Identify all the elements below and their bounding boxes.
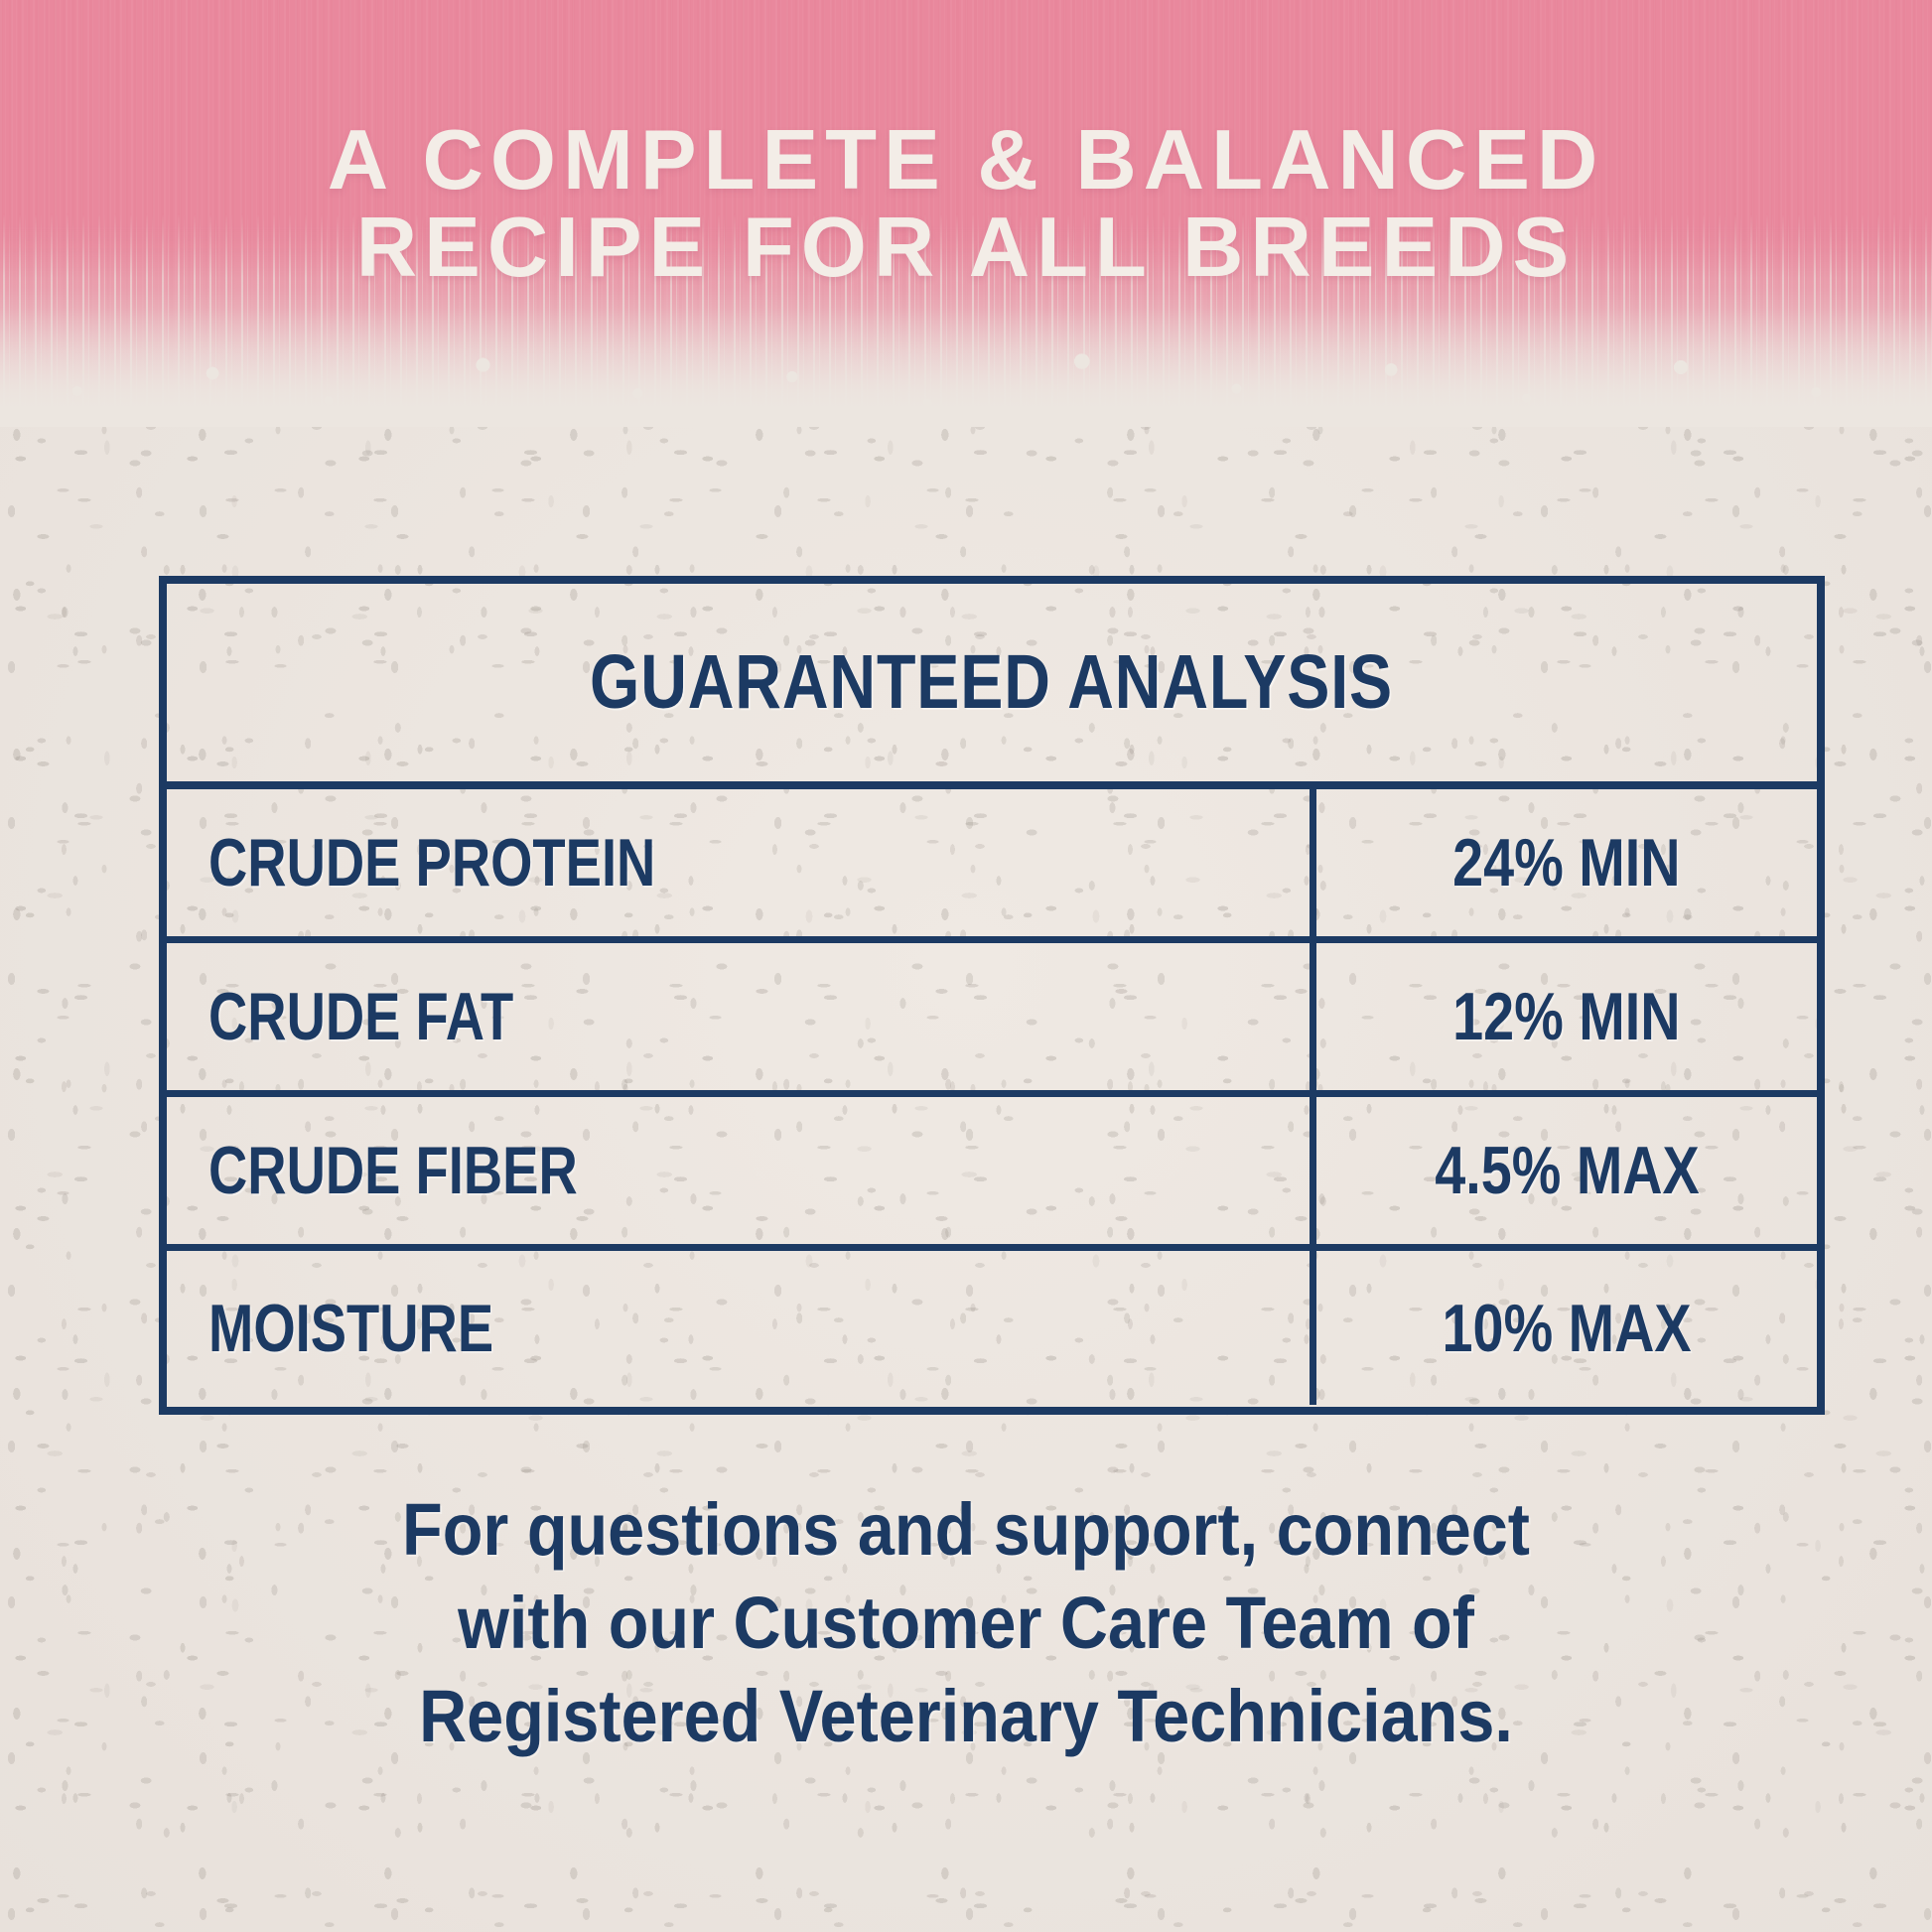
page-title-line-2: RECIPE FOR ALL BREEDS	[0, 205, 1932, 292]
guaranteed-analysis-panel: A COMPLETE & BALANCED RECIPE FOR ALL BRE…	[0, 0, 1932, 1932]
nutrient-label: MOISTURE	[208, 1290, 493, 1367]
customer-care-note-line-1: For questions and support, connect	[248, 1483, 1683, 1577]
nutrient-value: 12% MIN	[1452, 978, 1680, 1055]
table-title: GUARANTEED ANALYSIS	[590, 638, 1393, 727]
customer-care-note-line-2: with our Customer Care Team of	[248, 1577, 1683, 1670]
nutrient-label-cell: CRUDE FAT	[167, 943, 1316, 1090]
nutrient-value-cell: 10% MAX	[1316, 1251, 1817, 1405]
pink-brush-torn-edge	[0, 308, 1932, 427]
table-row: CRUDE FIBER 4.5% MAX	[167, 1097, 1817, 1251]
nutrient-value: 4.5% MAX	[1435, 1132, 1700, 1209]
nutrient-label: CRUDE FAT	[208, 978, 513, 1055]
page-title: A COMPLETE & BALANCED RECIPE FOR ALL BRE…	[0, 117, 1932, 293]
table-row: MOISTURE 10% MAX	[167, 1251, 1817, 1405]
customer-care-note: For questions and support, connect with …	[169, 1483, 1763, 1763]
nutrient-value: 24% MIN	[1452, 824, 1680, 901]
nutrient-value-cell: 24% MIN	[1316, 789, 1817, 936]
nutrient-value: 10% MAX	[1442, 1290, 1691, 1367]
nutrient-label-cell: MOISTURE	[167, 1251, 1316, 1405]
page-title-line-1: A COMPLETE & BALANCED	[0, 117, 1932, 205]
guaranteed-analysis-table: GUARANTEED ANALYSIS CRUDE PROTEIN 24% MI…	[159, 576, 1825, 1415]
nutrient-label-cell: CRUDE FIBER	[167, 1097, 1316, 1244]
customer-care-note-line-3: Registered Veterinary Technicians.	[248, 1670, 1683, 1763]
table-row: CRUDE PROTEIN 24% MIN	[167, 789, 1817, 943]
nutrient-value-cell: 4.5% MAX	[1316, 1097, 1817, 1244]
table-header: GUARANTEED ANALYSIS	[167, 584, 1817, 789]
nutrient-label-cell: CRUDE PROTEIN	[167, 789, 1316, 936]
nutrient-value-cell: 12% MIN	[1316, 943, 1817, 1090]
table-row: CRUDE FAT 12% MIN	[167, 943, 1817, 1097]
nutrient-label: CRUDE PROTEIN	[208, 824, 655, 901]
nutrient-label: CRUDE FIBER	[208, 1132, 578, 1209]
